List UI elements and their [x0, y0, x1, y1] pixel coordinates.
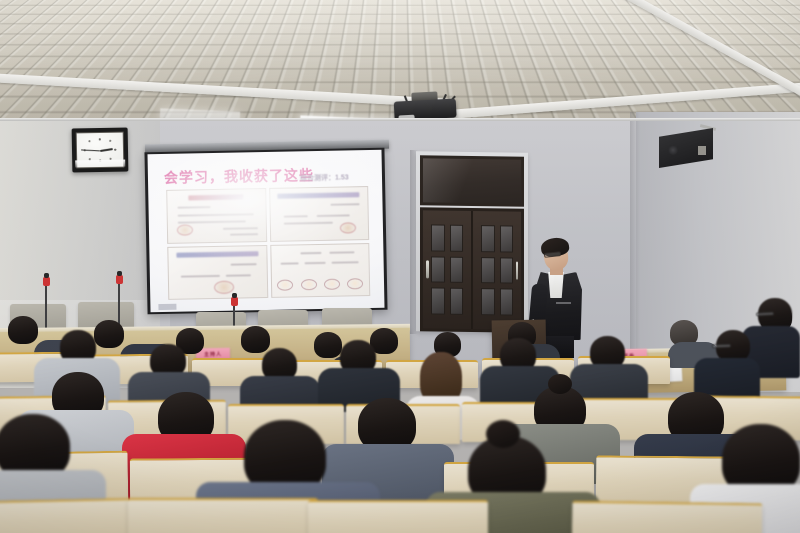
microphone-left — [45, 286, 47, 328]
hair-bun — [486, 420, 520, 448]
speaker-cone-icon — [668, 145, 678, 155]
microphone-center — [118, 284, 120, 328]
certificate-medal-row — [277, 277, 363, 293]
auditorium-seatback — [308, 500, 488, 533]
auditorium-seatback — [572, 501, 763, 533]
slide-subtitle: 综合测评：1.53 — [300, 172, 349, 183]
certificate-image — [269, 186, 370, 241]
projection-screen: 会学习，我收获了这些 综合测评：1.53 — [144, 148, 387, 315]
door-glass-pane — [481, 288, 495, 315]
medal-icon — [324, 279, 340, 290]
certificate-heading — [176, 251, 258, 258]
door-transom-window — [420, 155, 524, 206]
microphone-head-icon — [116, 275, 123, 284]
door-leaf-left[interactable] — [423, 210, 473, 329]
door-glass-pane — [481, 225, 495, 252]
medal-icon — [277, 280, 293, 291]
door-handle[interactable] — [426, 260, 429, 278]
glasses-icon — [712, 344, 731, 349]
auditorium-seatback — [128, 498, 318, 533]
certificate-image — [166, 188, 267, 243]
certificate-image — [270, 243, 371, 298]
screen-bottom-tab — [158, 304, 176, 310]
presenter-pocket — [556, 302, 571, 304]
slide-title: 会学习，我收获了这些 — [164, 165, 314, 188]
speaker-badge — [698, 146, 706, 155]
door-handle[interactable] — [516, 261, 519, 279]
door-glass-pane — [431, 224, 445, 251]
certificate-heading — [189, 195, 244, 201]
wall-ceiling-seam — [0, 118, 800, 121]
certificate-grid — [166, 186, 370, 300]
wall-clock — [72, 128, 129, 173]
door-glass-pane — [481, 257, 495, 284]
door-body[interactable] — [420, 207, 524, 332]
certificate-heading — [278, 192, 360, 199]
audience-member — [314, 332, 342, 358]
clock-glass-glare — [75, 160, 125, 168]
door-glass-pane — [431, 288, 445, 315]
certificate-image — [167, 244, 268, 299]
audience-member — [8, 316, 38, 344]
microphone-head-icon — [43, 277, 50, 286]
door-glass-pane — [450, 288, 464, 315]
audience-member — [241, 326, 270, 353]
projection-screen-surface: 会学习，我收获了这些 综合测评：1.53 — [148, 150, 385, 312]
door-leaf-right[interactable] — [473, 211, 521, 330]
auditorium-seatback — [0, 498, 141, 533]
audience-member — [94, 320, 124, 348]
microphone-head-icon — [231, 297, 238, 306]
door-glass-pane — [500, 257, 514, 284]
lecture-hall-photo: 会学习，我收获了这些 综合测评：1.53 — [0, 0, 800, 533]
door-glass-pane — [500, 289, 514, 316]
medal-icon — [347, 279, 363, 290]
name-card-label: 主持人 — [204, 350, 222, 357]
door-glass-pane — [450, 225, 464, 252]
hair-bun — [548, 374, 572, 394]
door-glass-pane — [431, 256, 445, 283]
door-glass-pane — [450, 256, 464, 283]
medal-icon — [301, 279, 317, 290]
double-door[interactable] — [416, 151, 528, 333]
door-glass-pane — [500, 225, 514, 252]
